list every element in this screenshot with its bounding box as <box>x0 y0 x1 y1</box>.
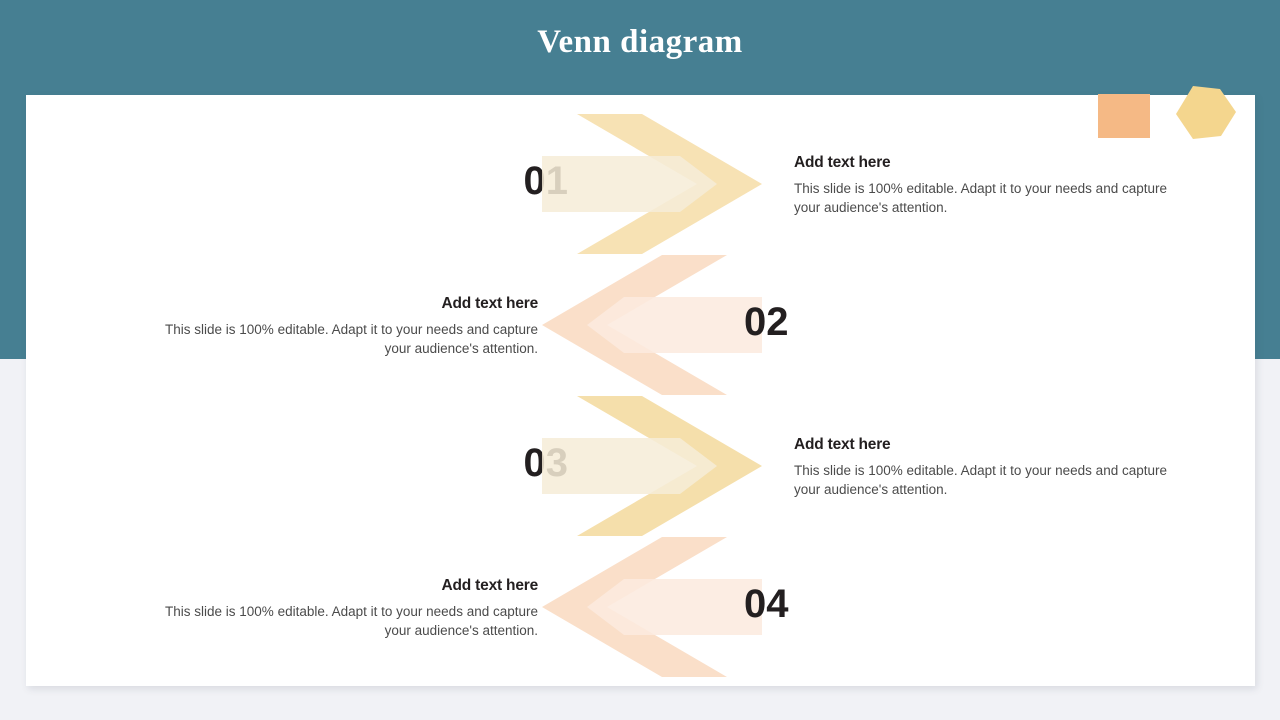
arrow-left-icon-04 <box>542 537 762 677</box>
step-body-03: This slide is 100% editable. Adapt it to… <box>794 461 1182 499</box>
bar-shape <box>587 579 762 635</box>
arrow-left-icon-02 <box>542 255 762 395</box>
bar-shape <box>587 297 762 353</box>
step-row-02: Add text here This slide is 100% editabl… <box>26 255 1255 395</box>
bar-shape <box>542 156 717 212</box>
step-row-03: 03 Add text here This slide is 100% edit… <box>26 396 1255 536</box>
bar-shape <box>542 438 717 494</box>
step-body-01: This slide is 100% editable. Adapt it to… <box>794 179 1182 217</box>
step-heading-01: Add text here <box>794 154 1182 172</box>
arrow-right-icon-01 <box>542 114 762 254</box>
step-heading-03: Add text here <box>794 436 1182 454</box>
step-number-04: 04 <box>744 581 824 627</box>
decoration-hexagon-icon <box>1175 85 1237 140</box>
step-body-04: This slide is 100% editable. Adapt it to… <box>150 602 538 640</box>
step-row-01: 01 Add text here This slide is 100% edit… <box>26 114 1255 254</box>
step-text-03: Add text here This slide is 100% editabl… <box>794 436 1182 499</box>
arrow-right-icon-03 <box>542 396 762 536</box>
step-text-04: Add text here This slide is 100% editabl… <box>150 577 538 640</box>
hexagon-shape <box>1176 86 1236 139</box>
step-text-01: Add text here This slide is 100% editabl… <box>794 154 1182 217</box>
step-number-02: 02 <box>744 299 824 345</box>
page-title: Venn diagram <box>0 24 1280 61</box>
slide-card: 01 Add text here This slide is 100% edit… <box>26 95 1255 686</box>
step-heading-04: Add text here <box>150 577 538 595</box>
step-row-04: Add text here This slide is 100% editabl… <box>26 537 1255 677</box>
decoration-square <box>1098 94 1150 138</box>
step-text-02: Add text here This slide is 100% editabl… <box>150 295 538 358</box>
step-body-02: This slide is 100% editable. Adapt it to… <box>150 320 538 358</box>
step-heading-02: Add text here <box>150 295 538 313</box>
